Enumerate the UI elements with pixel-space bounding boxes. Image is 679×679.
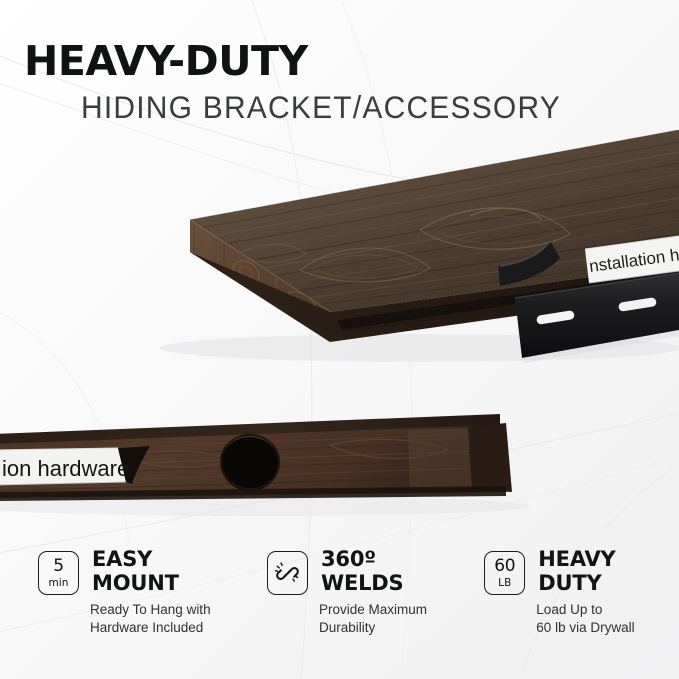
feature-description: Ready To Hang with Hardware Included [90,601,257,637]
feature-heading-row: 5 min EASY MOUNT [38,548,257,595]
feature-heading-line2: WELDS [321,572,403,596]
feature-heavy-duty: 60 LB HEAVY DUTY Load Up to 60 lb via Dr… [474,548,679,663]
feature-heading-row: 60 LB HEAVY DUTY [484,548,679,595]
badge-unit: LB [498,578,511,589]
chain-weld-icon [267,551,308,595]
bottom-shelf-drill-hole [221,437,279,491]
feature-desc-line1: Load Up to [536,601,679,619]
feature-desc-line1: Ready To Hang with [90,601,257,619]
product-infographic: nstallation h [0,0,679,679]
feature-desc-line1: Provide Maximum [319,601,476,619]
feature-list: 5 min EASY MOUNT Ready To Hang with Hard… [0,548,679,663]
headline-block: HEAVY-DUTY HIDING BRACKET/ACCESSORY [24,40,561,125]
feature-heading: 360º WELDS [321,548,403,595]
feature-description: Load Up to 60 lb via Drywall [536,601,679,637]
timer-badge-icon: 5 min [38,551,79,595]
badge-unit: min [48,578,68,589]
badge-number: 5 [53,558,64,575]
feature-heading-line1: EASY [92,548,179,572]
feature-heading: EASY MOUNT [92,548,179,595]
bracket-mounting-plate [0,130,679,380]
feature-description: Provide Maximum Durability [319,601,476,637]
page-subtitle: HIDING BRACKET/ACCESSORY [81,91,561,126]
feature-desc-line2: 60 lb via Drywall [536,619,679,637]
feature-heading-line1: HEAVY [538,548,615,572]
bottom-shelf-end-cap [468,423,512,492]
feature-360-welds: 360º WELDS Provide Maximum Durability [257,548,476,663]
feature-heading-line2: MOUNT [92,572,179,596]
weight-badge-icon: 60 LB [484,551,525,595]
feature-easy-mount: 5 min EASY MOUNT Ready To Hang with Hard… [28,548,257,663]
chain-link-glyph [275,561,300,586]
badge-number: 60 [494,558,515,575]
feature-heading-line2: DUTY [538,572,615,596]
feature-desc-line2: Durability [319,619,476,637]
bottom-shelf-product-photo: ion hardware [0,400,679,530]
bottom-shelf-label-text: ion hardware [2,456,129,481]
feature-heading-line1: 360º [321,548,403,572]
feature-heading: HEAVY DUTY [538,548,615,595]
feature-heading-row: 360º WELDS [267,548,476,595]
page-title: HEAVY-DUTY [24,40,561,83]
feature-desc-line2: Hardware Included [90,619,257,637]
